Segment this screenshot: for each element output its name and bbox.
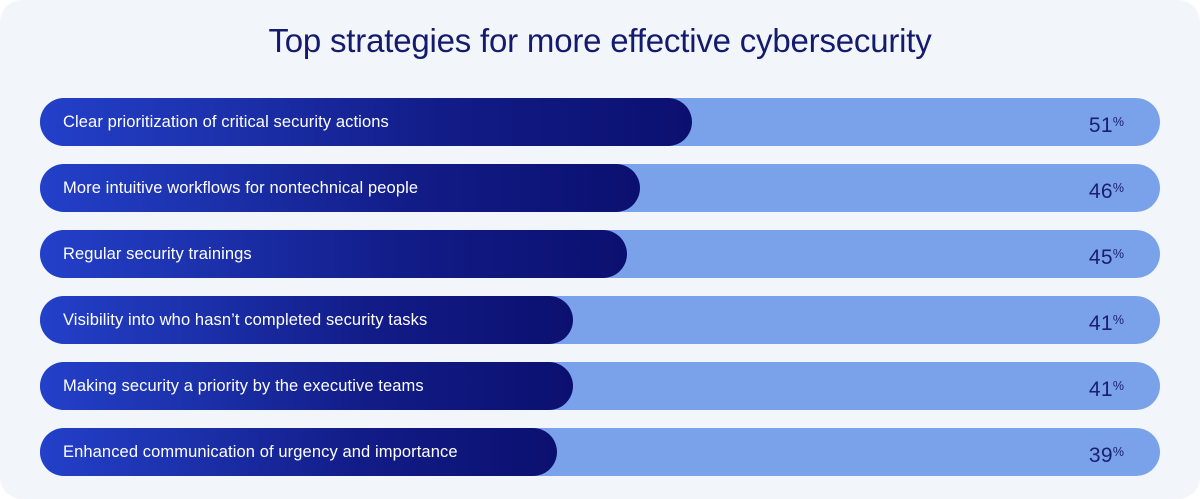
bar-value: 45% xyxy=(1089,230,1124,278)
bar-label: Enhanced communication of urgency and im… xyxy=(63,428,458,476)
bar-row[interactable]: Making security a priority by the execut… xyxy=(40,362,1160,410)
bar-row[interactable]: Enhanced communication of urgency and im… xyxy=(40,428,1160,476)
bar-row[interactable]: Visibility into who hasn’t completed sec… xyxy=(40,296,1160,344)
bar-label: Clear prioritization of critical securit… xyxy=(63,98,389,146)
bar-label: More intuitive workflows for nontechnica… xyxy=(63,164,418,212)
bar-label: Regular security trainings xyxy=(63,230,252,278)
percent-sign: % xyxy=(1113,379,1124,393)
bar-row[interactable]: Regular security trainings 45% xyxy=(40,230,1160,278)
bar-value: 51% xyxy=(1089,98,1124,146)
percent-sign: % xyxy=(1113,445,1124,459)
bar-value: 41% xyxy=(1089,296,1124,344)
chart-card: Top strategies for more effective cybers… xyxy=(0,0,1200,499)
chart-title: Top strategies for more effective cybers… xyxy=(0,22,1200,60)
bar-value-number: 45 xyxy=(1089,246,1113,269)
bar-value: 39% xyxy=(1089,428,1124,476)
bar-value-number: 39 xyxy=(1089,444,1113,467)
bar-label: Visibility into who hasn’t completed sec… xyxy=(63,296,427,344)
bar-row[interactable]: More intuitive workflows for nontechnica… xyxy=(40,164,1160,212)
percent-sign: % xyxy=(1113,181,1124,195)
bar-value-number: 41 xyxy=(1089,378,1113,401)
percent-sign: % xyxy=(1113,313,1124,327)
bar-value: 46% xyxy=(1089,164,1124,212)
bar-value-number: 41 xyxy=(1089,312,1113,335)
percent-sign: % xyxy=(1113,115,1124,129)
bar-list: Clear prioritization of critical securit… xyxy=(40,98,1160,476)
percent-sign: % xyxy=(1113,247,1124,261)
bar-value-number: 51 xyxy=(1089,114,1113,137)
bar-row[interactable]: Clear prioritization of critical securit… xyxy=(40,98,1160,146)
bar-value-number: 46 xyxy=(1089,180,1113,203)
bar-value: 41% xyxy=(1089,362,1124,410)
bar-label: Making security a priority by the execut… xyxy=(63,362,424,410)
